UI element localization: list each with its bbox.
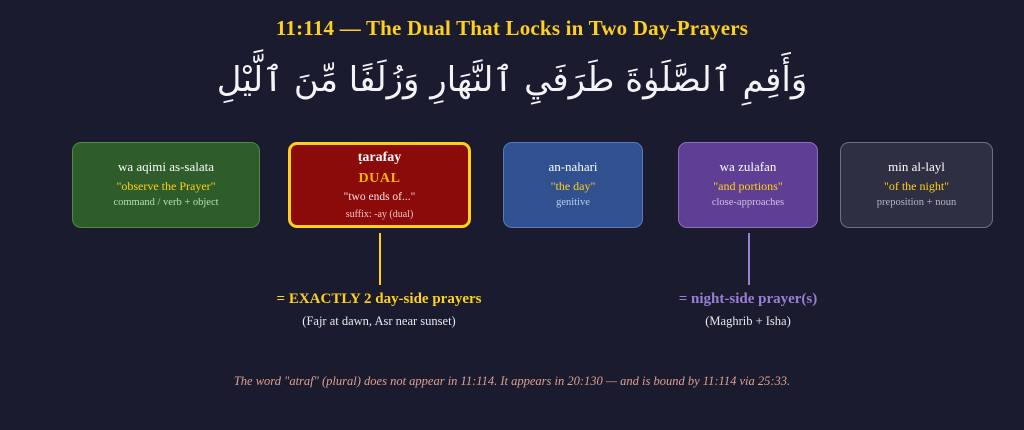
word-cards-row: wa aqimi as-salata "observe the Prayer" … <box>0 142 1024 228</box>
word-card-note: close-approaches <box>712 195 784 211</box>
word-card-gloss: "of the night" <box>884 177 949 195</box>
connector-line-day <box>379 233 381 285</box>
word-card-wa-zulafan[interactable]: wa zulafan "and portions" close-approach… <box>678 142 818 228</box>
annotation-headline: = night-side prayer(s) <box>608 288 888 311</box>
annotation-day-side: = EXACTLY 2 day-side prayers (Fajr at da… <box>199 288 559 332</box>
word-card-gloss: "observe the Prayer" <box>116 177 215 195</box>
word-card-min-al-layl[interactable]: min al-layl "of the night" preposition +… <box>840 142 993 228</box>
word-card-note: "two ends of..." <box>344 189 416 207</box>
word-card-note: genitive <box>556 195 590 211</box>
word-card-tarafay-highlighted[interactable]: ṭarafay DUAL "two ends of..." suffix: -a… <box>288 142 471 228</box>
annotation-headline: = EXACTLY 2 day-side prayers <box>199 288 559 311</box>
word-card-an-nahari[interactable]: an-nahari "the day" genitive <box>503 142 643 228</box>
annotation-detail: (Fajr at dawn, Asr near sunset) <box>199 311 559 332</box>
word-card-wa-aqimi-as-salata[interactable]: wa aqimi as-salata "observe the Prayer" … <box>72 142 260 228</box>
word-card-note: preposition + noun <box>877 195 956 211</box>
annotation-night-side: = night-side prayer(s) (Maghrib + Isha) <box>608 288 888 332</box>
word-card-note: command / verb + object <box>113 195 218 211</box>
word-card-dual-badge: DUAL <box>358 169 400 189</box>
connector-line-night <box>748 233 750 285</box>
footer-note: The word "atraf" (plural) does not appea… <box>0 374 1024 389</box>
word-card-suffix: suffix: -ay (dual) <box>346 207 414 222</box>
arabic-ayah-text: وَأَقِمِ ٱلصَّلَوٰةَ طَرَفَيِ ٱلنَّهَارِ… <box>0 55 1024 106</box>
annotation-detail: (Maghrib + Isha) <box>608 311 888 332</box>
page-title: 11:114 — The Dual That Locks in Two Day-… <box>0 16 1024 41</box>
infographic-stage: 11:114 — The Dual That Locks in Two Day-… <box>0 0 1024 430</box>
word-card-gloss: "the day" <box>551 177 596 195</box>
word-card-term: an-nahari <box>548 158 597 177</box>
word-card-term: min al-layl <box>888 158 945 177</box>
word-card-gloss: "and portions" <box>713 177 782 195</box>
word-card-term: ṭarafay <box>358 148 402 168</box>
word-card-term: wa aqimi as-salata <box>118 158 214 177</box>
word-card-term: wa zulafan <box>720 158 777 177</box>
